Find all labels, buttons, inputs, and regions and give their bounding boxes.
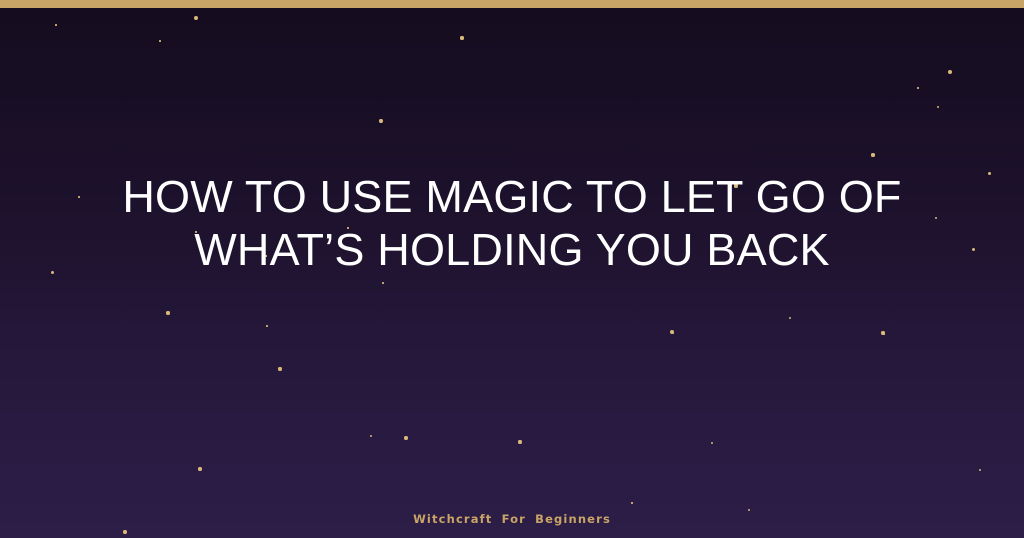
footer: Witchcraft For Beginners <box>0 510 1024 528</box>
star-dot <box>884 334 885 335</box>
star-dot <box>937 106 940 109</box>
star-dot <box>871 153 874 156</box>
brand-label: Witchcraft For Beginners <box>413 512 611 526</box>
star-dot <box>266 325 268 327</box>
star-dot <box>881 331 884 334</box>
star-dot <box>159 40 161 42</box>
star-dot <box>948 70 952 74</box>
star-dot <box>123 530 126 533</box>
star-dot <box>278 367 281 370</box>
star-dot <box>518 440 521 443</box>
top-accent-bar <box>0 0 1024 8</box>
star-dot <box>55 24 57 26</box>
star-dot <box>789 317 791 319</box>
star-dot <box>404 436 407 439</box>
star-dot <box>166 311 169 314</box>
title-block: HOW TO USE MAGIC TO LET GO OF WHAT’S HOL… <box>0 170 1024 276</box>
star-dot <box>884 334 885 335</box>
star-dot <box>884 334 885 335</box>
star-dot <box>917 87 918 88</box>
star-dot <box>460 36 463 39</box>
star-dot <box>370 435 373 438</box>
star-dot <box>884 334 885 335</box>
title-slide: HOW TO USE MAGIC TO LET GO OF WHAT’S HOL… <box>0 0 1024 538</box>
star-dot <box>979 469 982 472</box>
star-dot <box>670 330 674 334</box>
star-dot <box>631 502 632 503</box>
star-dot <box>379 119 382 122</box>
star-dot <box>711 442 714 445</box>
star-dot <box>382 282 384 284</box>
page-title: HOW TO USE MAGIC TO LET GO OF WHAT’S HOL… <box>40 170 984 276</box>
star-dot <box>198 467 201 470</box>
star-dot <box>673 333 674 334</box>
star-dot <box>194 16 199 21</box>
